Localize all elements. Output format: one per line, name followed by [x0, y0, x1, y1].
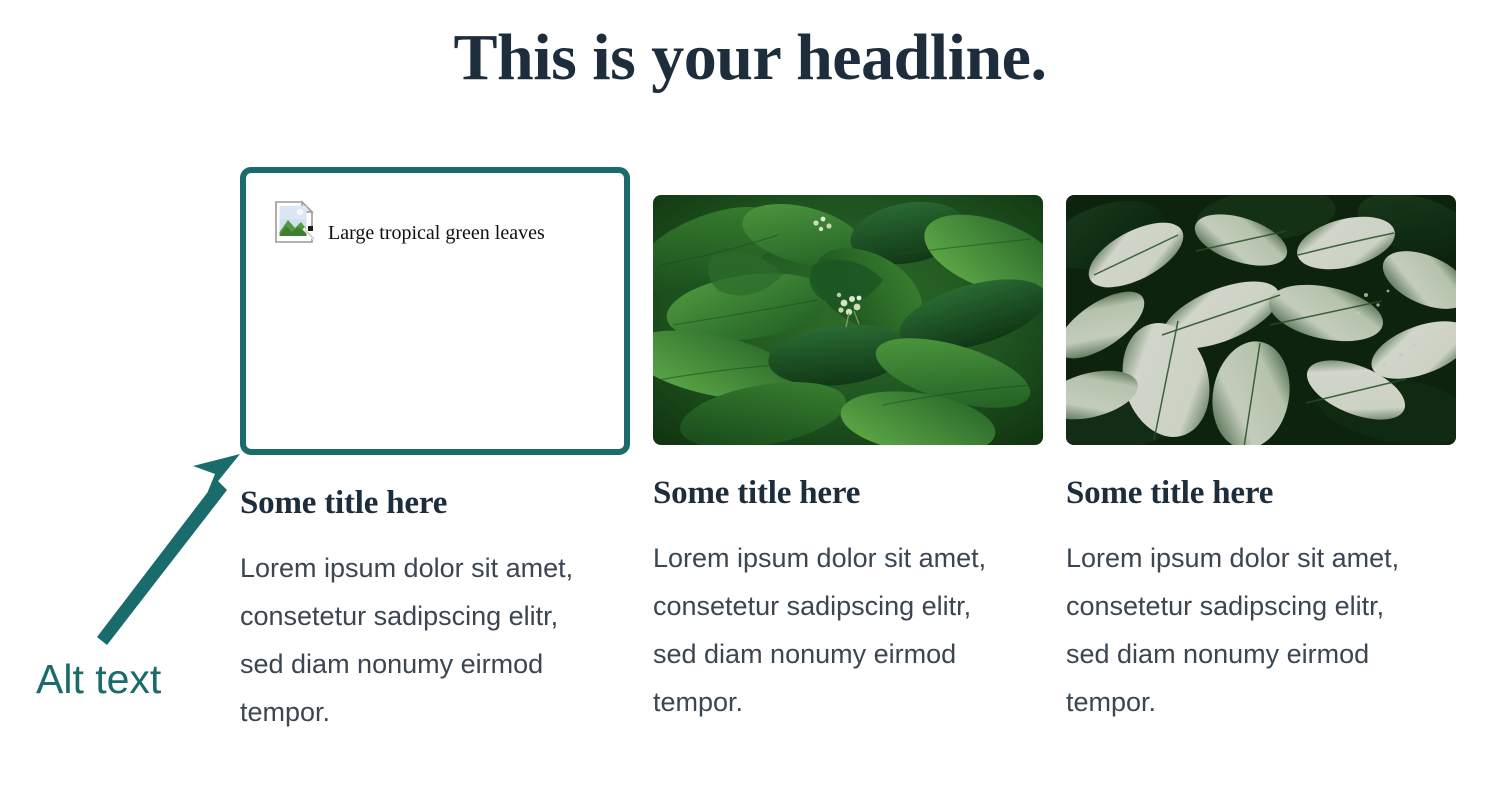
card-3: Some title here Lorem ipsum dolor sit am… — [1066, 167, 1456, 726]
broken-image-placeholder: Large tropical green leaves — [274, 199, 545, 245]
card-1-title: Some title here — [240, 484, 630, 524]
card-1-body: Lorem ipsum dolor sit amet, consetetur s… — [240, 544, 580, 736]
card-1-alt-text: Large tropical green leaves — [316, 223, 545, 245]
broken-image-icon — [274, 199, 316, 245]
arrow-up-right-icon — [75, 440, 265, 650]
card-3-body: Lorem ipsum dolor sit amet, consetetur s… — [1066, 534, 1406, 726]
card-2-media[interactable] — [653, 195, 1043, 445]
annotation-label: Alt text — [36, 659, 161, 700]
card-1-media[interactable]: Large tropical green leaves — [240, 167, 630, 455]
card-2-body: Lorem ipsum dolor sit amet, consetetur s… — [653, 534, 993, 726]
card-2: Some title here Lorem ipsum dolor sit am… — [653, 167, 1043, 726]
card-grid: Large tropical green leaves Some title h… — [240, 167, 1455, 736]
card-1: Large tropical green leaves Some title h… — [240, 167, 630, 736]
card-2-title: Some title here — [653, 474, 1043, 514]
page-headline: This is your headline. — [0, 22, 1500, 95]
leaves-photo-green — [653, 195, 1043, 445]
card-3-media[interactable] — [1066, 195, 1456, 445]
leaves-photo-variegated — [1066, 195, 1456, 445]
card-3-title: Some title here — [1066, 474, 1456, 514]
